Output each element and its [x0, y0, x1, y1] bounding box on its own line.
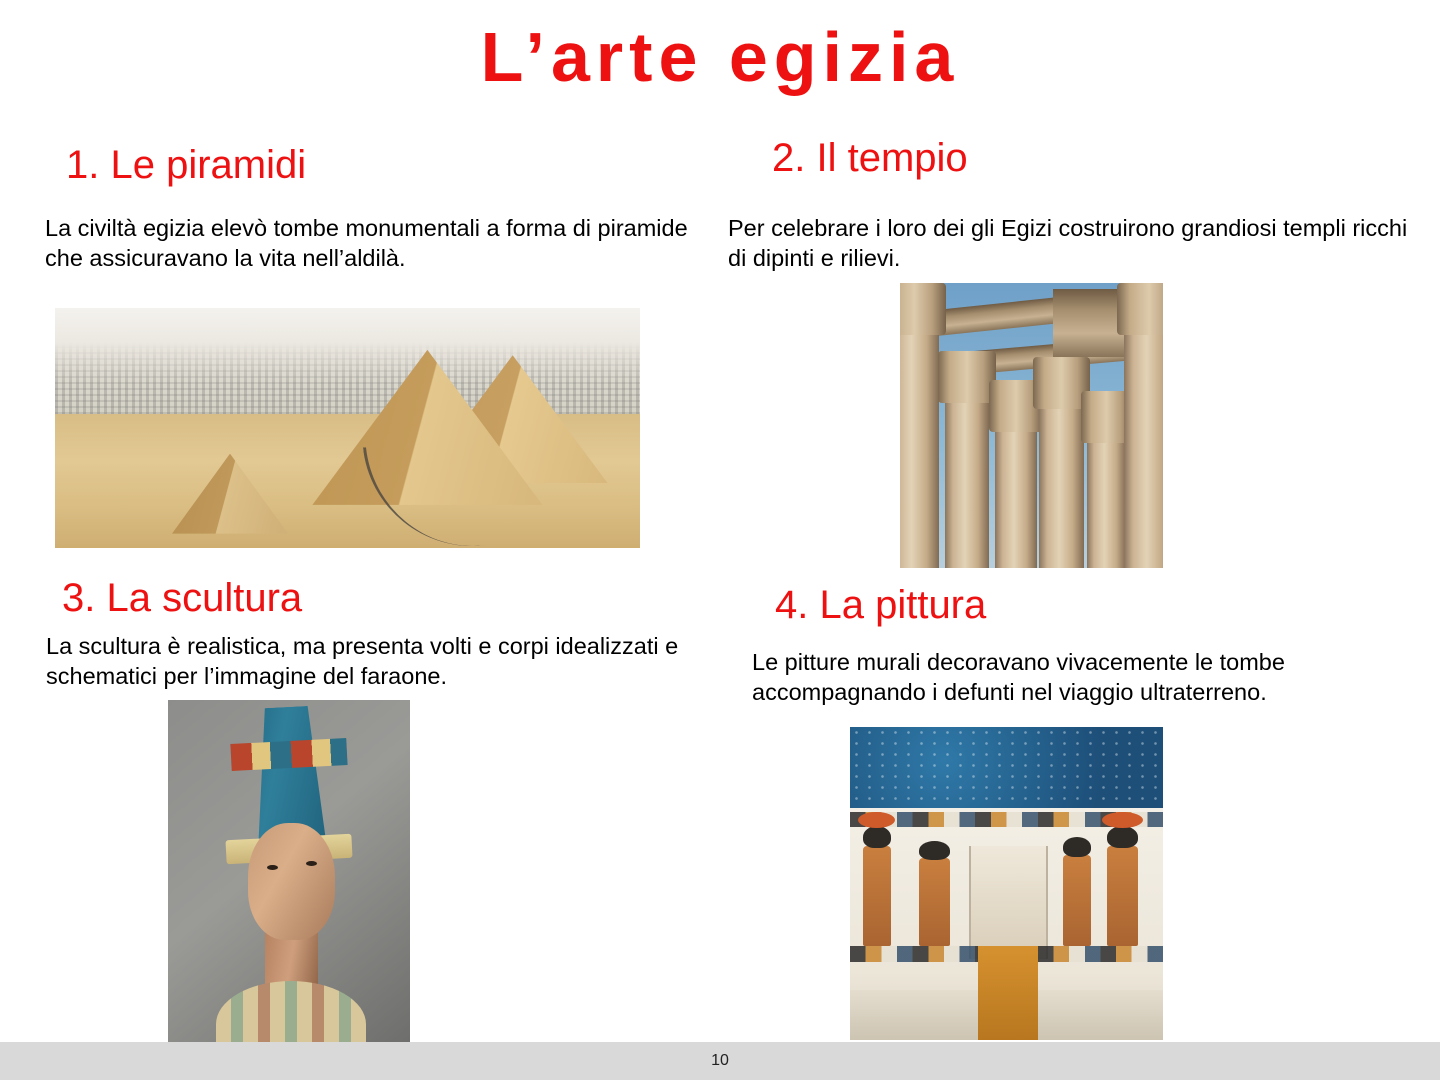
tomb-star-ceiling: [850, 727, 1163, 812]
figure-head: [1107, 826, 1138, 848]
section-body-scultura: La scultura è realistica, ma presenta vo…: [46, 632, 718, 692]
column-capital: [1117, 283, 1163, 335]
tomb-ramp: [978, 946, 1037, 1040]
page-number: 10: [0, 1042, 1440, 1080]
temple-column-3: [995, 380, 1037, 568]
nefertiti-face: [248, 823, 335, 940]
section-heading-scultura: 3. La scultura: [62, 578, 302, 618]
crown-colored-band: [230, 738, 347, 771]
section-heading-tempio: 2. Il tempio: [772, 138, 968, 178]
tomb-corridor: [969, 846, 1048, 959]
egyptian-temple-image: [900, 283, 1163, 568]
footer-bar: 10: [0, 1042, 1440, 1080]
figure-head: [919, 841, 950, 860]
pyramids-of-giza-image: [55, 308, 640, 548]
section-body-piramidi: La civiltà egizia elevò tombe monumental…: [45, 214, 705, 274]
sun-disc: [1102, 812, 1143, 828]
nefertiti-eye-left: [267, 865, 278, 870]
temple-column-6: [1124, 283, 1163, 568]
tomb-wall-painting-image: [850, 727, 1163, 1040]
ceiling-stars: [850, 727, 1163, 812]
column-capital: [900, 283, 946, 335]
section-heading-pittura: 4. La pittura: [775, 585, 986, 625]
figure-head: [863, 826, 891, 848]
section-heading-piramidi: 1. Le piramidi: [66, 145, 306, 185]
presentation-slide: L’arte egizia 1. Le piramidi La civiltà …: [0, 0, 1440, 1080]
figure-head: [1063, 837, 1091, 857]
section-body-pittura: Le pitture murali decoravano vivacemente…: [752, 648, 1412, 708]
temple-column-1: [900, 283, 939, 568]
painted-figure-1: [863, 846, 891, 946]
painted-figure-3: [1063, 855, 1091, 946]
painted-figure-2: [919, 858, 950, 946]
nefertiti-bust-image: [168, 700, 410, 1043]
temple-column-5: [1087, 391, 1126, 568]
nefertiti-collar: [216, 981, 366, 1043]
section-body-tempio: Per celebrare i loro dei gli Egizi costr…: [728, 214, 1418, 274]
painted-figure-4: [1107, 846, 1138, 946]
column-capital: [938, 351, 995, 403]
temple-column-4: [1039, 357, 1084, 568]
temple-column-2: [945, 351, 990, 568]
sun-disc: [858, 812, 895, 828]
slide-title: L’arte egizia: [0, 22, 1440, 92]
